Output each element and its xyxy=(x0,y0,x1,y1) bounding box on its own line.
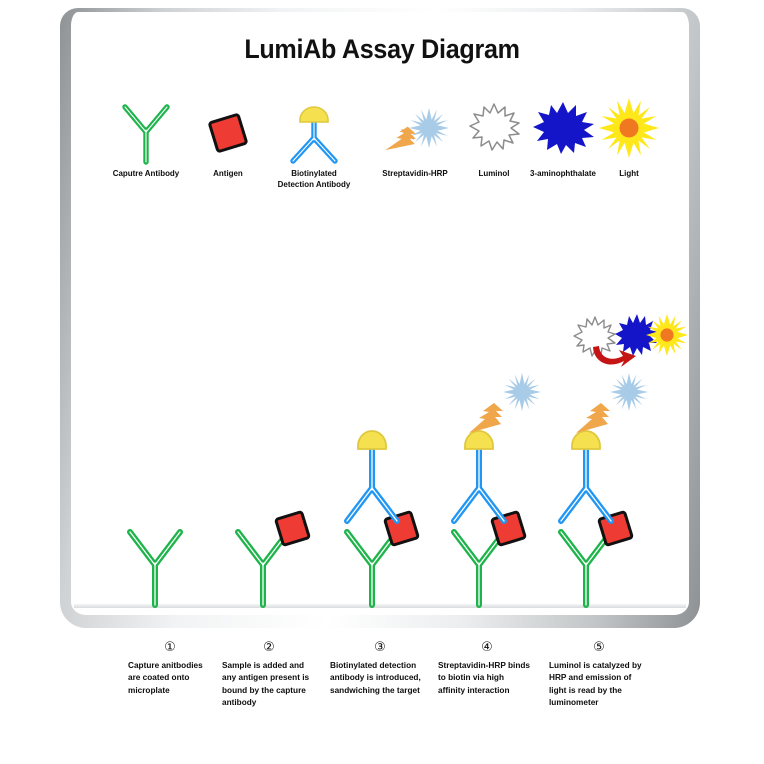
luminol-icon xyxy=(463,96,525,168)
legend-label-detection-antibody-line2: Detection Antibody xyxy=(265,179,364,190)
legend-item-luminol: Luminol xyxy=(463,96,525,179)
step-number-2: ② xyxy=(222,640,316,655)
step-number-5: ⑤ xyxy=(549,640,649,655)
stage-5-light xyxy=(645,313,689,357)
legend-label-aminophthalate: 3-aminophthalate xyxy=(520,168,606,179)
step-caption-5: ⑤ Luminol is catalyzed by HRP and emissi… xyxy=(549,640,649,709)
step-text-1: Capture anitbodies are coated onto micro… xyxy=(128,659,209,696)
legend-label-antigen: Antigen xyxy=(182,168,273,179)
step-caption-2: ② Sample is added and any antigen presen… xyxy=(222,640,316,709)
step-text-2: Sample is added and any antigen present … xyxy=(222,659,312,709)
step-caption-1: ① Capture anitbodies are coated onto mic… xyxy=(128,640,212,696)
legend-item-streptavidin-hrp: Streptavidin-HRP xyxy=(366,96,464,179)
stage-1-capture-antibody xyxy=(110,523,200,609)
step-text-3: Biotinylated detection antibody is intro… xyxy=(330,659,426,696)
aminophthalate-icon xyxy=(518,96,608,168)
legend-label-detection-antibody-line1: Biotinylated xyxy=(265,168,364,179)
stage-5-streptavidin-hrp xyxy=(570,372,660,442)
step-text-5: Luminol is catalyzed by HRP and emission… xyxy=(549,659,645,709)
legend-label-streptavidin-hrp: Streptavidin-HRP xyxy=(368,168,461,179)
step-number-1: ① xyxy=(128,640,212,655)
legend-label-luminol: Luminol xyxy=(465,168,524,179)
legend-item-light: Light xyxy=(600,96,658,179)
biotinylated-detection-antibody-icon xyxy=(262,96,366,168)
step-text-4: Streptavidin-HRP binds to biotin via hig… xyxy=(438,659,532,696)
legend-item-aminophthalate: 3-aminophthalate xyxy=(518,96,608,179)
step-caption-4: ④ Streptavidin-HRP binds to biotin via h… xyxy=(438,640,536,696)
legend-label-light: Light xyxy=(601,168,656,179)
stage-3-detection-antibody xyxy=(327,424,417,534)
page-title: LumiAb Assay Diagram xyxy=(27,34,738,65)
legend-item-detection-antibody: Biotinylated Detection Antibody xyxy=(262,96,366,190)
step-number-3: ③ xyxy=(330,640,430,655)
light-icon xyxy=(600,96,658,168)
stage-4-streptavidin-hrp xyxy=(463,372,553,442)
step-number-4: ④ xyxy=(438,640,536,655)
step-caption-3: ③ Biotinylated detection antibody is int… xyxy=(330,640,430,696)
stage-2-antigen xyxy=(269,505,317,553)
assay-diagram-canvas: LumiAb Assay Diagram Caputre Antibody An… xyxy=(0,0,764,764)
streptavidin-hrp-icon xyxy=(366,96,464,168)
